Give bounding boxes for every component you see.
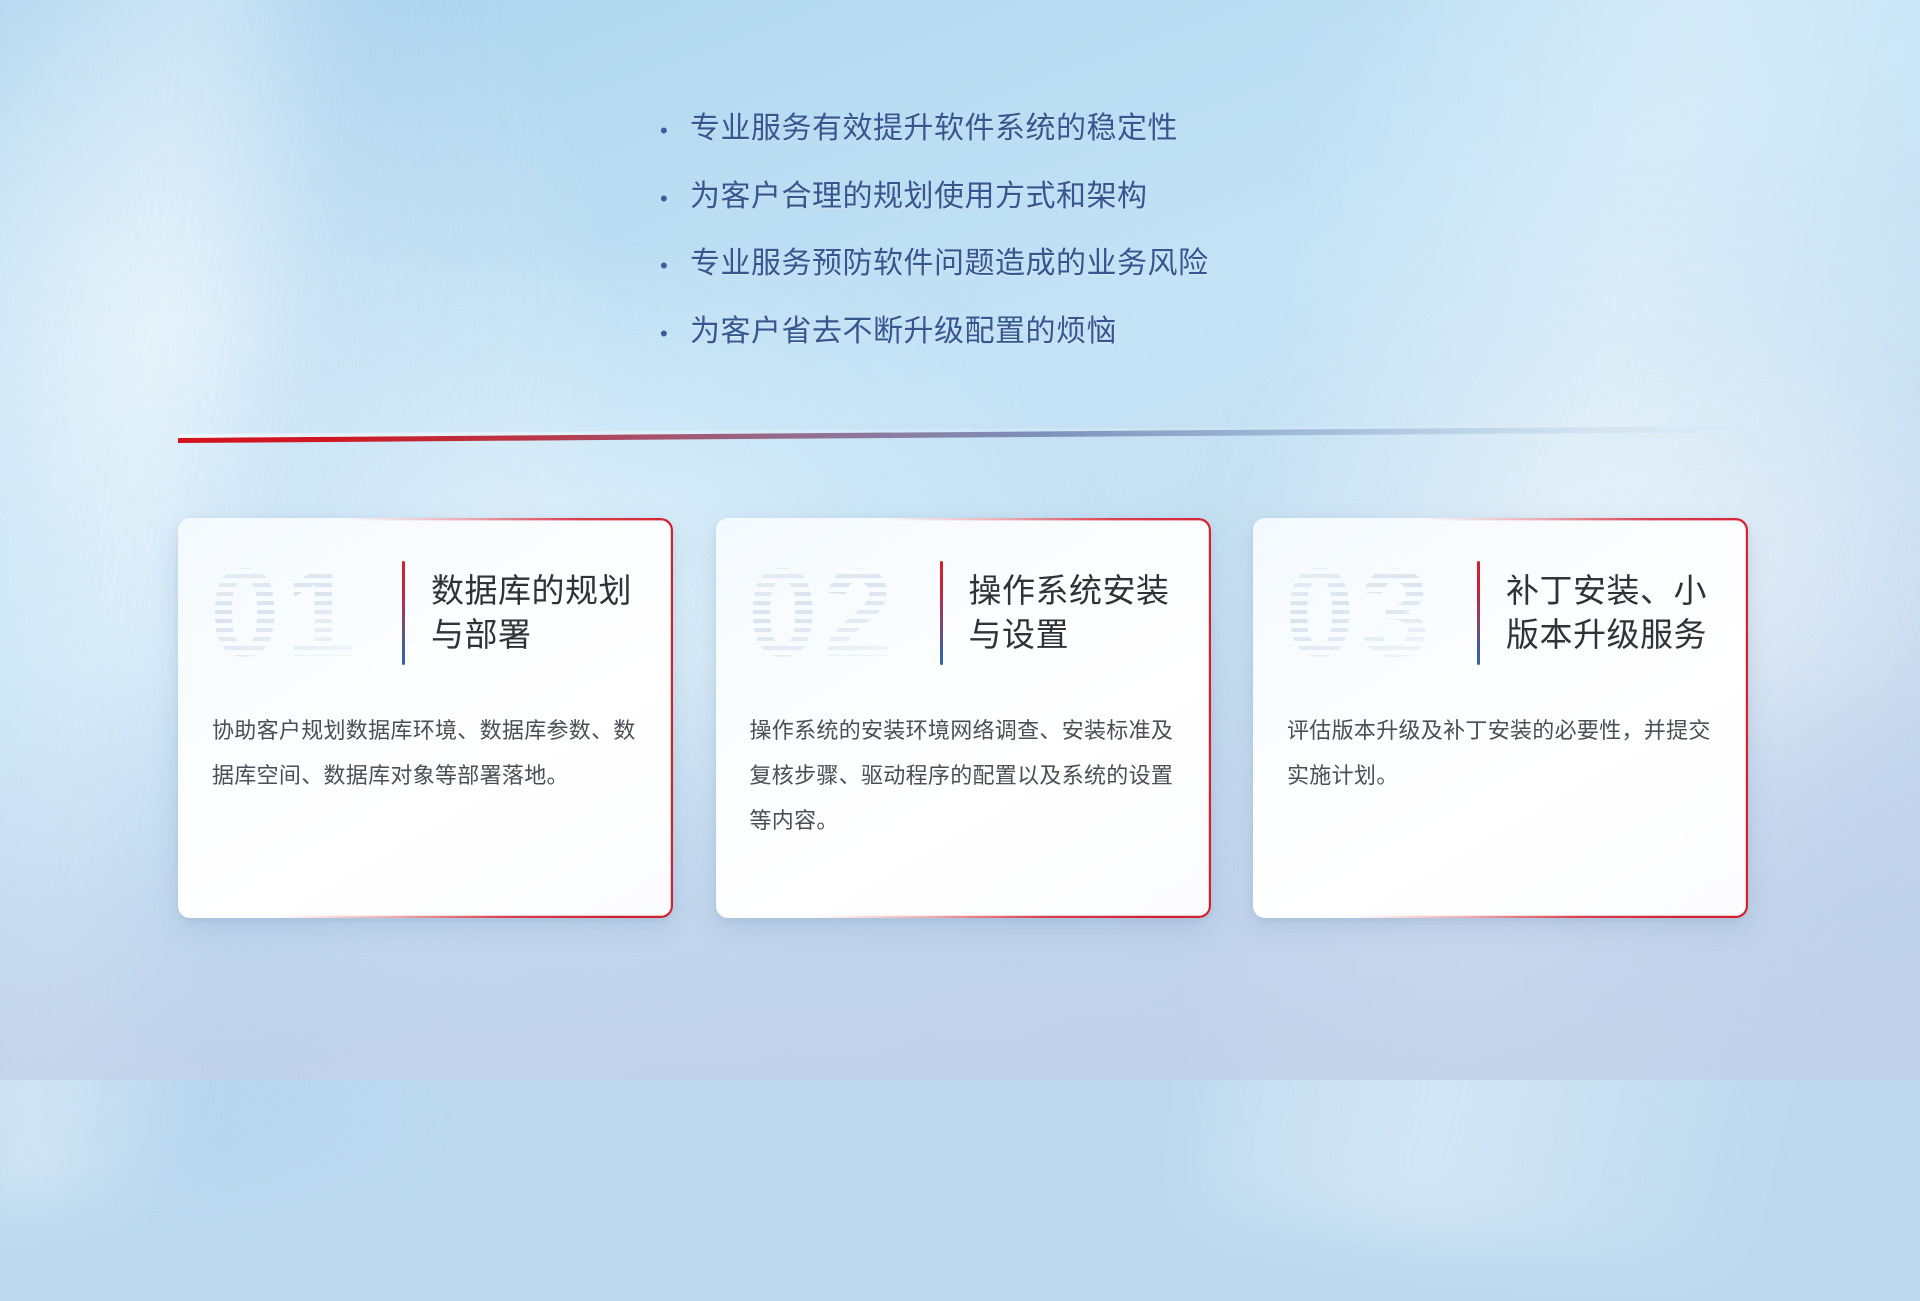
- title-accent-bar: [402, 561, 405, 665]
- svg-text:01: 01: [210, 544, 361, 683]
- bullet-item: • 为客户合理的规划使用方式和架构: [660, 178, 1420, 216]
- card-header: 03 补丁安装、小版本升级服务: [1253, 518, 1748, 708]
- bullet-text: 专业服务预防软件问题造成的业务风险: [690, 245, 1209, 283]
- card-description: 操作系统的安装环境网络调查、安装标准及复核步骤、驱动程序的配置以及系统的设置等内…: [716, 708, 1211, 843]
- service-card[interactable]: 01 数据库的规划与部署 协助客户规划数据库环境、数据库参数、数据库空间、数据库…: [178, 518, 673, 918]
- benefits-bullet-list: • 专业服务有效提升软件系统的稳定性 • 为客户合理的规划使用方式和架构 • 专…: [660, 110, 1420, 380]
- card-header: 02 操作系统安装与设置: [716, 518, 1211, 708]
- card-number-ghost: 02: [746, 538, 936, 688]
- bullet-item: • 为客户省去不断升级配置的烦恼: [660, 313, 1420, 351]
- bullet-text: 为客户省去不断升级配置的烦恼: [690, 313, 1117, 351]
- bullet-marker-icon: •: [660, 319, 690, 345]
- card-title: 数据库的规划与部署: [431, 569, 647, 656]
- title-accent-bar: [1477, 561, 1480, 665]
- title-accent-bar: [940, 561, 943, 665]
- service-card[interactable]: 03 补丁安装、小版本升级服务 评估版本升级及补丁安装的必要性，并提交实施计划。: [1253, 518, 1748, 918]
- bullet-marker-icon: •: [660, 116, 690, 142]
- service-card-row: 01 数据库的规划与部署 协助客户规划数据库环境、数据库参数、数据库空间、数据库…: [178, 518, 1748, 918]
- card-number-ghost: 03: [1283, 538, 1473, 688]
- card-title: 补丁安装、小版本升级服务: [1506, 569, 1722, 656]
- card-header: 01 数据库的规划与部署: [178, 518, 673, 708]
- bullet-text: 专业服务有效提升软件系统的稳定性: [690, 110, 1178, 148]
- bullet-marker-icon: •: [660, 251, 690, 277]
- card-description: 评估版本升级及补丁安装的必要性，并提交实施计划。: [1253, 708, 1748, 798]
- card-description: 协助客户规划数据库环境、数据库参数、数据库空间、数据库对象等部署落地。: [178, 708, 673, 798]
- svg-text:03: 03: [1285, 544, 1436, 683]
- bullet-text: 为客户合理的规划使用方式和架构: [690, 178, 1148, 216]
- card-title: 操作系统安装与设置: [969, 569, 1185, 656]
- svg-text:02: 02: [748, 544, 899, 683]
- section-divider: [178, 420, 1748, 446]
- service-card[interactable]: 02 操作系统安装与设置 操作系统的安装环境网络调查、安装标准及复核步骤、驱动程…: [716, 518, 1211, 918]
- bullet-item: • 专业服务有效提升软件系统的稳定性: [660, 110, 1420, 148]
- bullet-marker-icon: •: [660, 184, 690, 210]
- bullet-item: • 专业服务预防软件问题造成的业务风险: [660, 245, 1420, 283]
- card-number-ghost: 01: [208, 538, 398, 688]
